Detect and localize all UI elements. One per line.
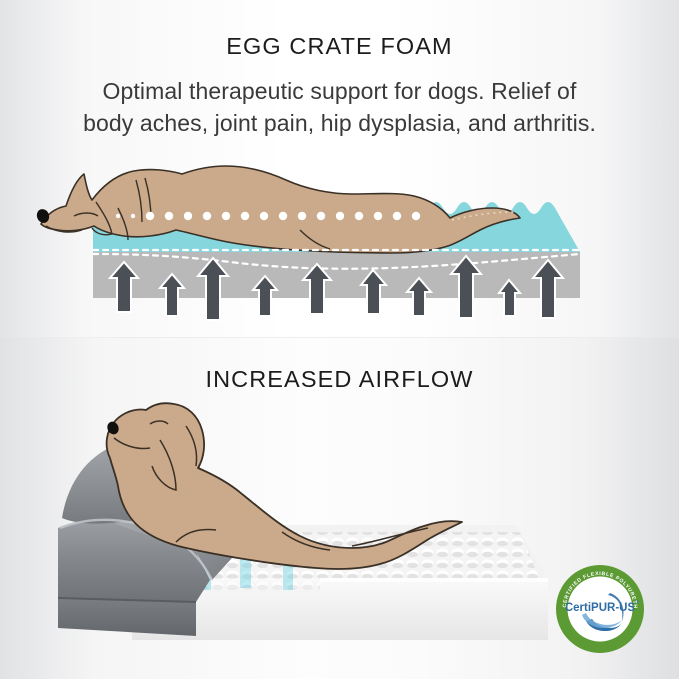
certipur-us-badge: CertiPUR-US ® CONTAINS CERTIFIED FLEXIBL…: [552, 561, 648, 657]
section-egg-crate-foam: EGG CRATE FOAM Optimal therapeutic suppo…: [0, 0, 679, 338]
badge-brand-text: CertiPUR-US: [565, 602, 636, 614]
subtitle-egg-crate-foam: Optimal therapeutic support for dogs. Re…: [0, 75, 679, 139]
subtitle-line-2: body aches, joint pain, hip dysplasia, a…: [0, 107, 679, 139]
dog-on-foam-cross-section-illustration: [0, 150, 679, 335]
bed-base: [58, 598, 196, 636]
page-title-egg-crate-foam: EGG CRATE FOAM: [0, 33, 679, 60]
section-increased-airflow: INCREASED AIRFLOW: [0, 338, 679, 679]
subtitle-line-1: Optimal therapeutic support for dogs. Re…: [0, 75, 679, 107]
infographic-page: EGG CRATE FOAM Optimal therapeutic suppo…: [0, 0, 679, 679]
